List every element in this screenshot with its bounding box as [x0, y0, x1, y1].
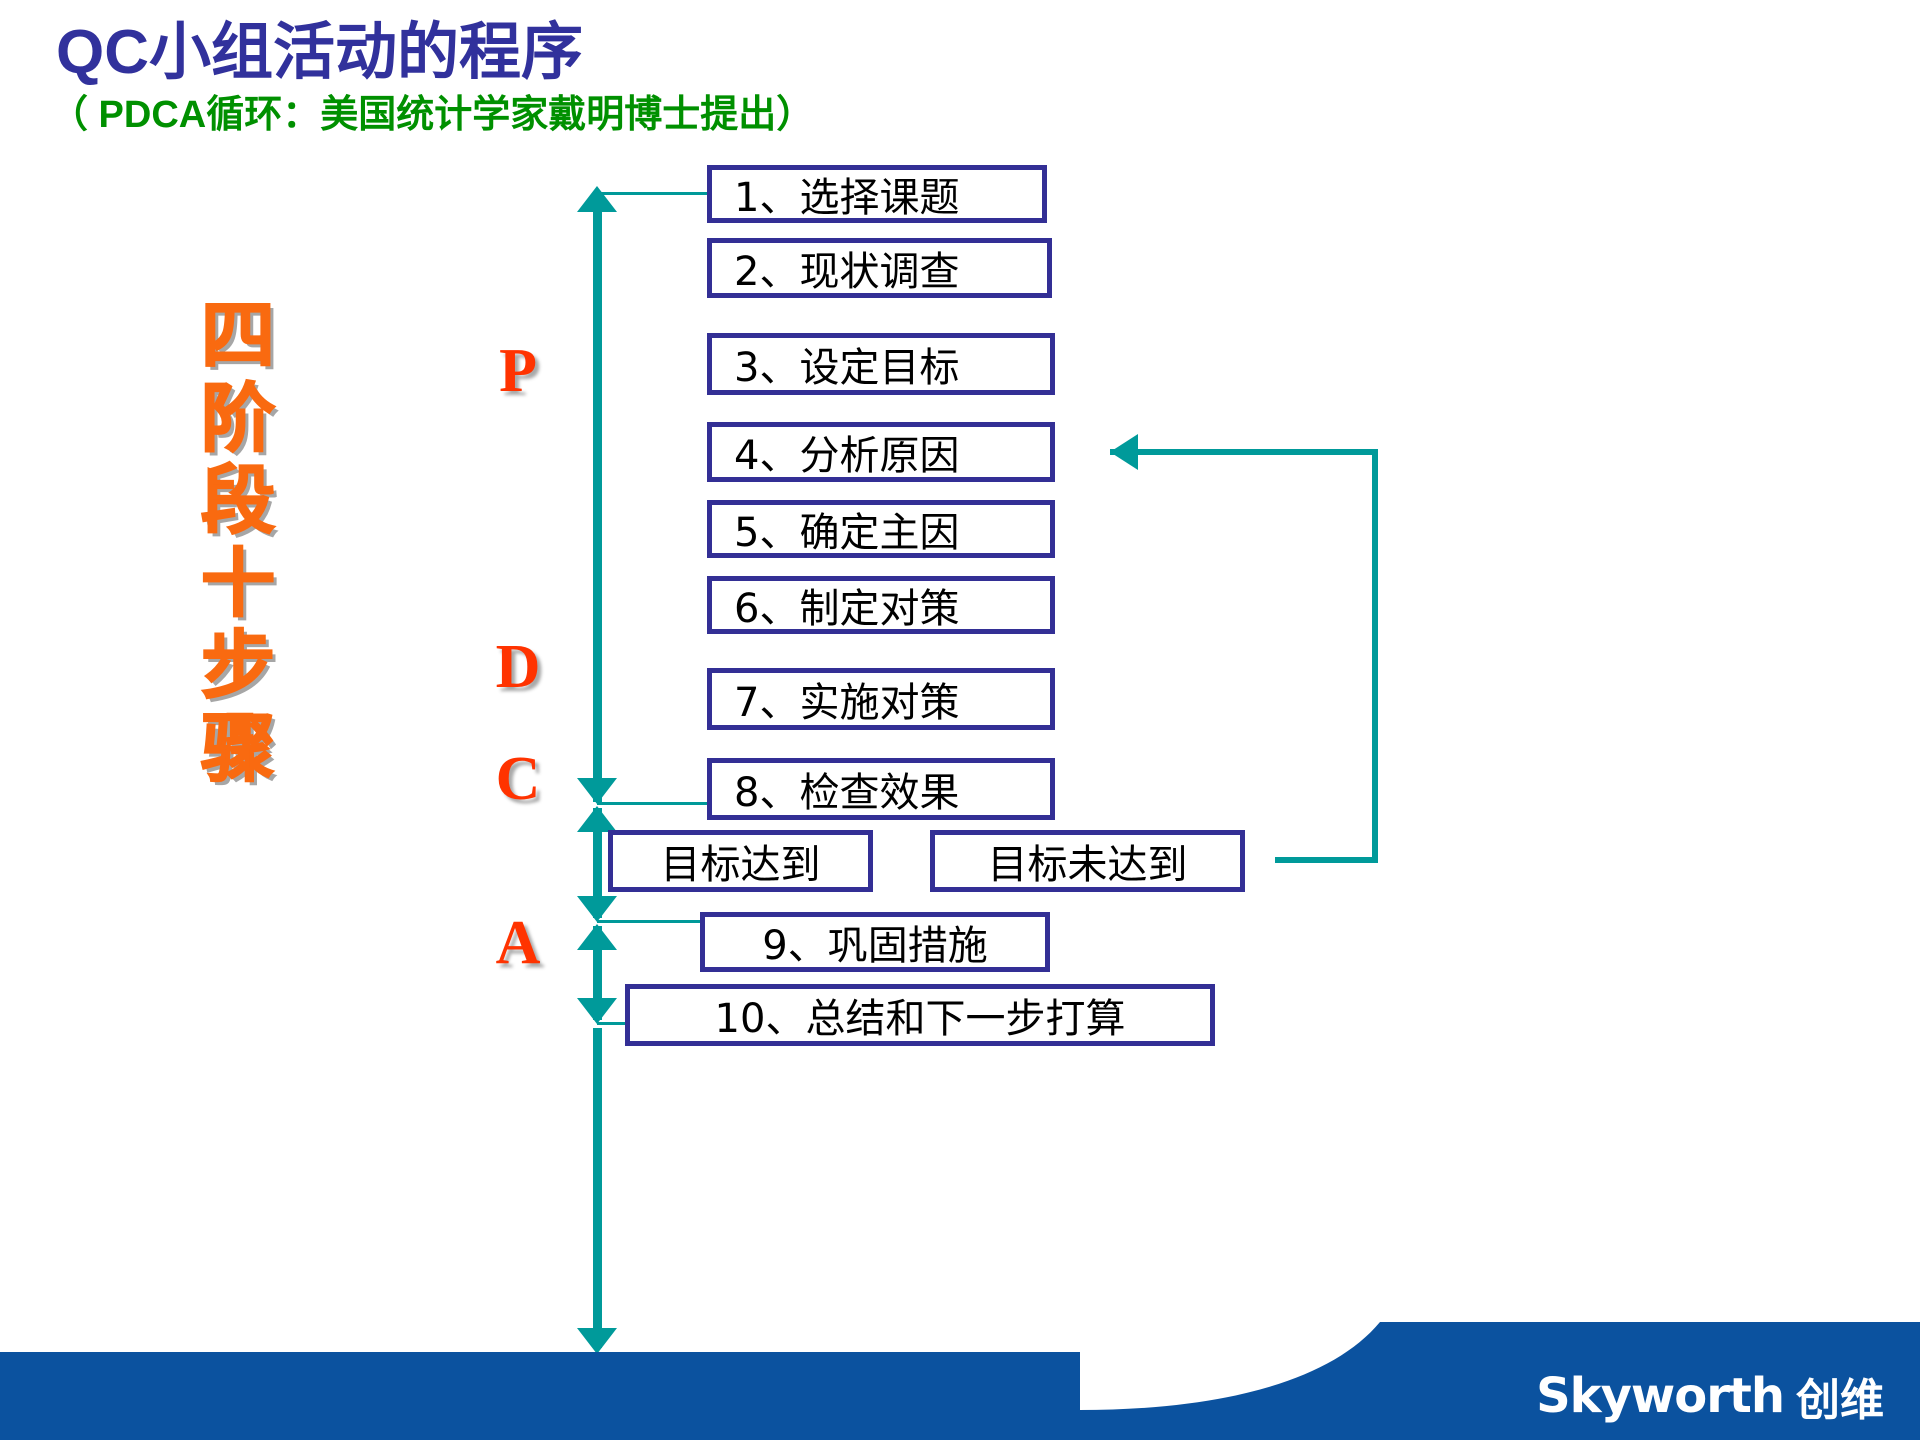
arrow-head-check-up — [577, 896, 617, 922]
step-box-label: 2、现状调查 — [734, 239, 959, 297]
phase-label-p: P — [483, 336, 553, 407]
vertical-phrase: 四 阶 段 十 步 骤 — [186, 300, 290, 795]
phase-label-c: C — [483, 744, 553, 815]
arrow-head-act-up — [577, 998, 617, 1024]
vertical-phrase-char: 段 — [201, 465, 275, 538]
outcome-box-label: 目标达到 — [661, 832, 821, 890]
step-box-label: 6、制定对策 — [734, 576, 959, 634]
arrow-shaft-plan — [593, 210, 602, 802]
phase-label-a: A — [483, 908, 553, 979]
slide-canvas: QC小组活动的程序 （ PDCA循环：美国统计学家戴明博士提出） 四 阶 段 十… — [0, 0, 1920, 1440]
step-box-5[interactable]: 5、确定主因 — [707, 500, 1055, 558]
phase-label-d: D — [483, 632, 553, 703]
page-title: QC小组活动的程序 — [56, 22, 583, 84]
step-box-4[interactable]: 4、分析原因 — [707, 422, 1055, 482]
step-box-2[interactable]: 2、现状调查 — [707, 238, 1052, 298]
step-box-6[interactable]: 6、制定对策 — [707, 576, 1055, 634]
outcome-box-goal-met[interactable]: 目标达到 — [608, 830, 873, 892]
feedback-loop-arrow — [1080, 430, 1410, 880]
step-box-3[interactable]: 3、设定目标 — [707, 333, 1055, 395]
step-box-label: 10、总结和下一步打算 — [715, 986, 1126, 1044]
step-box-label: 5、确定主因 — [734, 500, 959, 558]
step-box-9[interactable]: 9、巩固措施 — [700, 912, 1050, 972]
vertical-phrase-char: 骤 — [201, 713, 275, 786]
step-box-label: 7、实施对策 — [734, 670, 959, 728]
footer-swoosh — [1080, 1322, 1500, 1440]
step-box-8[interactable]: 8、检查效果 — [707, 758, 1055, 820]
arrow-head-do-down — [577, 806, 617, 832]
vertical-phrase-char: 四 — [201, 300, 275, 373]
brand-name-cn: 创维 — [1796, 1364, 1884, 1428]
brand-name: Skyworth — [1536, 1368, 1784, 1424]
page-subtitle: （ PDCA循环：美国统计学家戴明博士提出） — [50, 96, 814, 134]
vertical-phrase-char: 步 — [201, 630, 275, 703]
step-box-label: 1、选择课题 — [734, 165, 959, 223]
vertical-phrase-char: 阶 — [201, 383, 275, 456]
step-box-label: 8、检查效果 — [734, 760, 959, 818]
arrow-head-bottom — [577, 1328, 617, 1354]
brand-logo: Skyworth 创维 — [1536, 1352, 1884, 1440]
step-box-label: 3、设定目标 — [734, 335, 959, 393]
step-box-label: 9、巩固措施 — [762, 913, 987, 971]
arrow-shaft-act — [593, 1028, 602, 1348]
arrow-head-do-up — [577, 778, 617, 804]
step-box-label: 4、分析原因 — [734, 423, 959, 481]
step-box-10[interactable]: 10、总结和下一步打算 — [625, 984, 1215, 1046]
step-box-1[interactable]: 1、选择课题 — [707, 165, 1047, 223]
arrow-head-check-down — [577, 924, 617, 950]
arrow-head-top — [577, 186, 617, 212]
vertical-phrase-char: 十 — [201, 548, 275, 621]
step-box-7[interactable]: 7、实施对策 — [707, 668, 1055, 730]
